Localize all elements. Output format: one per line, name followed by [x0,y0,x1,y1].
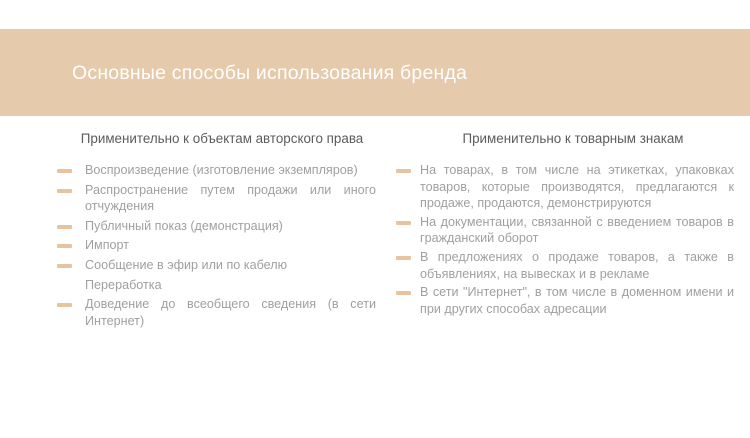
dash-icon [57,169,72,173]
list-item: В сети "Интернет", в том числе в доменно… [394,284,734,317]
list-item: Публичный показ (демонстрация) [52,218,376,235]
dash-icon [396,221,411,225]
list-item: Сообщение в эфир или по кабелю [52,257,376,274]
dash-icon [396,169,411,173]
list-item: Доведение до всеобщего сведения (в сети … [52,296,376,329]
dash-icon [396,291,411,295]
list-item-label: Публичный показ (демонстрация) [85,219,283,233]
list-item: Импорт [52,237,376,254]
list-item: В предложениях о продаже товаров, а такж… [394,249,734,282]
dash-icon [396,256,411,260]
list-item-label: Переработка [85,278,162,292]
slide-root: Основные способы использования бренда Пр… [0,0,750,438]
list-item: Воспроизведение (изготовление экземпляро… [52,162,376,179]
page-title: Основные способы использования бренда [72,62,467,85]
list-item-label: В сети "Интернет", в том числе в доменно… [420,285,734,316]
bullet-list-left: Воспроизведение (изготовление экземпляро… [52,162,376,329]
list-item-label: Распространение путем продажи или иного … [85,183,376,214]
list-item-label: На товарах, в том числе на этикетках, уп… [420,163,734,210]
list-item-label: Воспроизведение (изготовление экземпляро… [85,163,358,177]
list-item: На товарах, в том числе на этикетках, уп… [394,162,734,212]
dash-icon [57,244,72,248]
content-columns: Применительно к объектам авторского прав… [0,130,750,332]
list-item: Переработка [52,277,376,294]
bullet-list-right: На товарах, в том числе на этикетках, уп… [394,162,734,317]
dash-icon [57,264,72,268]
dash-icon [57,189,72,193]
list-item-label: На документации, связанной с введением т… [420,215,734,246]
list-item-label: Доведение до всеобщего сведения (в сети … [85,297,376,328]
list-item: Распространение путем продажи или иного … [52,182,376,215]
column-heading-left: Применительно к объектам авторского прав… [52,130,376,148]
column-copyright-objects: Применительно к объектам авторского прав… [0,130,394,332]
list-item: На документации, связанной с введением т… [394,214,734,247]
dash-icon [57,303,72,307]
list-item-label: Сообщение в эфир или по кабелю [85,258,287,272]
list-item-label: Импорт [85,238,129,252]
dash-icon [57,225,72,229]
column-trademarks: Применительно к товарным знакам На товар… [394,130,750,319]
column-heading-right: Применительно к товарным знакам [394,130,734,148]
list-item-label: В предложениях о продаже товаров, а такж… [420,250,734,281]
